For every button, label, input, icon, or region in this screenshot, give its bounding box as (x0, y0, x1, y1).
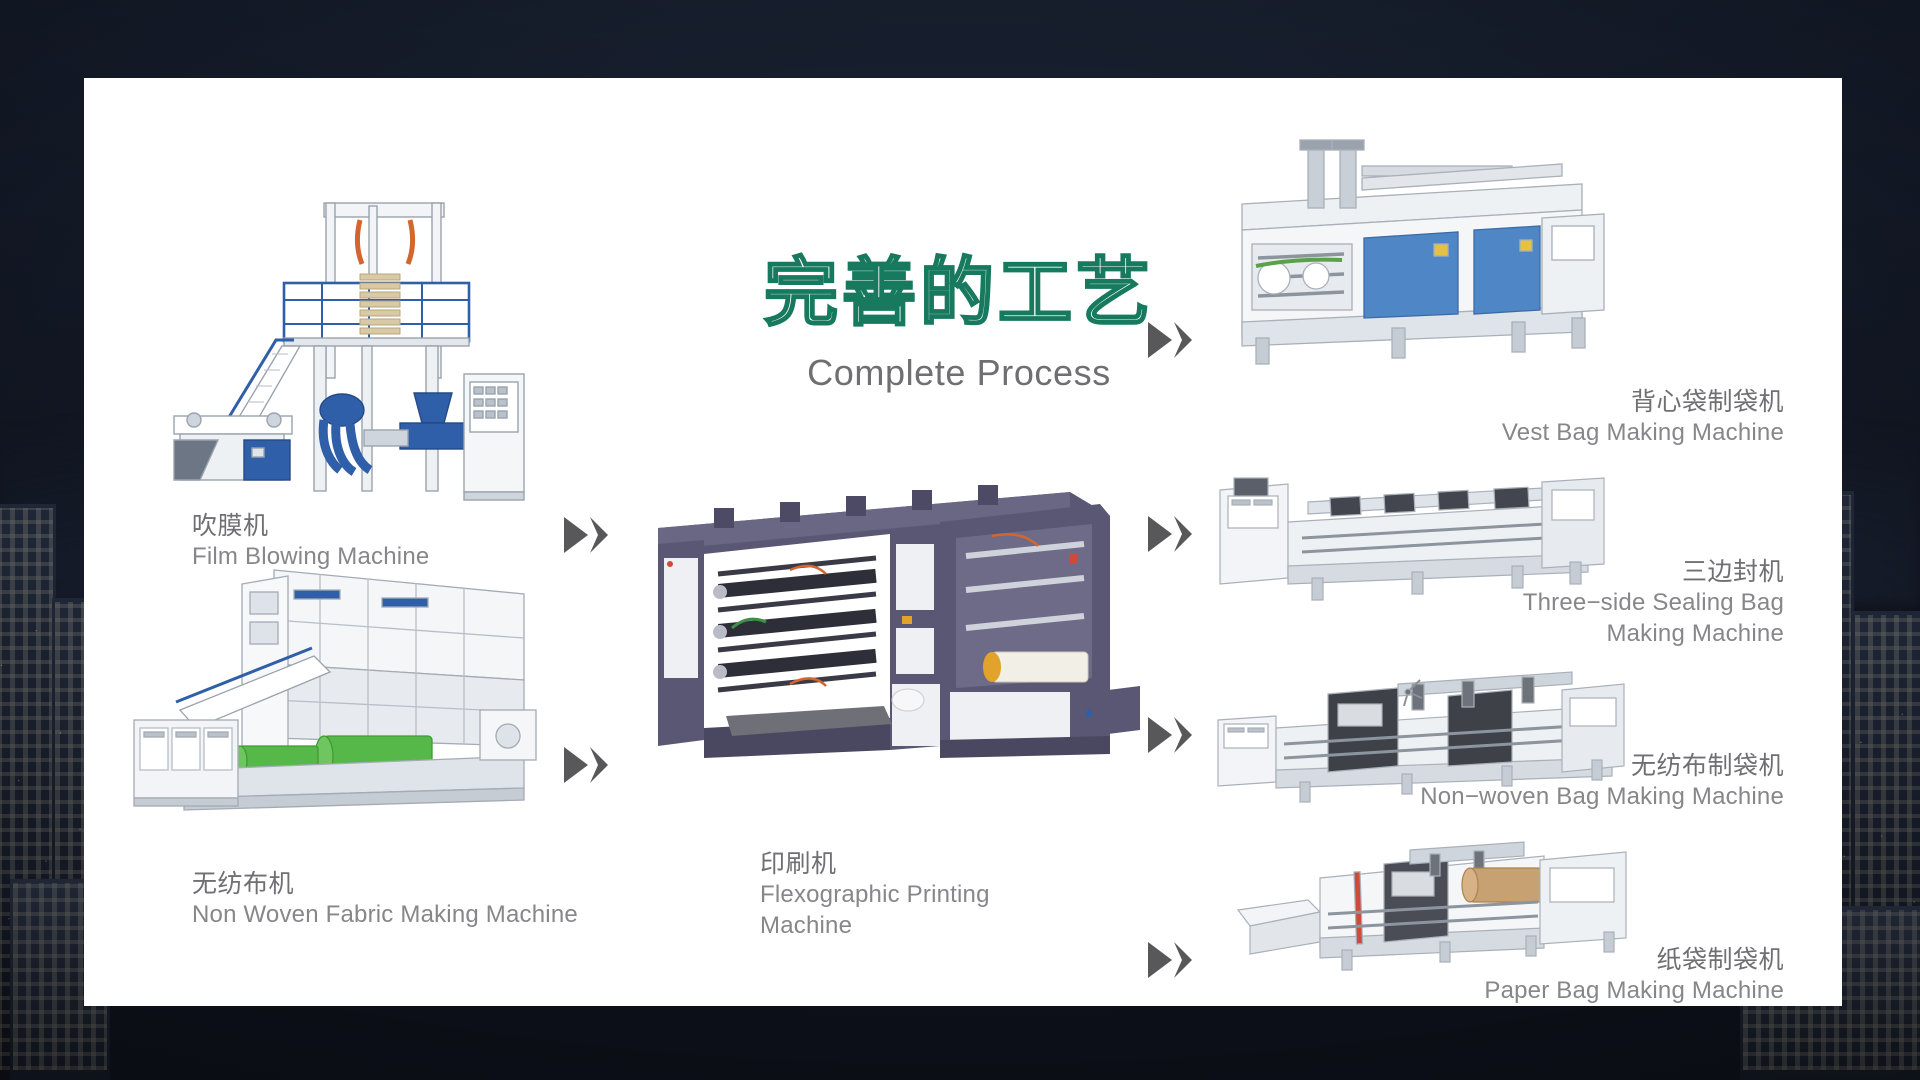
label-en: Vest Bag Making Machine (1364, 418, 1784, 449)
label-en-line1: Three−side Sealing Bag (1344, 588, 1784, 619)
headline-block: 完善的工艺 Complete Process (724, 256, 1194, 394)
content-card: 完善的工艺 Complete Process (84, 78, 1842, 1006)
label-cn: 吹膜机 (192, 510, 532, 542)
label-en: Non−woven Bag Making Machine (1324, 782, 1784, 813)
label-en-line2: Machine (760, 911, 1060, 942)
page-title-en: Complete Process (724, 352, 1194, 394)
label-en-line2: Making Machine (1344, 619, 1784, 650)
label-flexographic-printing-machine: 印刷机 Flexographic Printing Machine (760, 848, 1060, 941)
label-non-woven-bag-making-machine: 无纺布制袋机 Non−woven Bag Making Machine (1324, 750, 1784, 813)
machine-image-vest-bag (1212, 126, 1612, 376)
label-vest-bag-making-machine: 背心袋制袋机 Vest Bag Making Machine (1364, 386, 1784, 449)
arrow-to-paper-bag (1146, 938, 1202, 982)
label-three-side-sealing-bag-making-machine: 三边封机 Three−side Sealing Bag Making Machi… (1344, 556, 1784, 649)
page-title-cn: 完善的工艺 (724, 256, 1194, 330)
label-cn: 纸袋制袋机 (1364, 944, 1784, 976)
machine-image-flexographic-printing (640, 478, 1140, 768)
label-cn: 无纺布机 (192, 868, 632, 900)
label-cn: 背心袋制袋机 (1364, 386, 1784, 418)
arrow-to-non-woven-bag (1146, 713, 1202, 757)
arrow-to-vest-bag (1146, 318, 1202, 362)
machine-image-film-blowing (164, 178, 534, 508)
arrow-to-three-side-sealing (1146, 512, 1202, 556)
label-cn: 三边封机 (1344, 556, 1784, 588)
label-paper-bag-making-machine: 纸袋制袋机 Paper Bag Making Machine (1364, 944, 1784, 1007)
label-en: Paper Bag Making Machine (1364, 976, 1784, 1007)
label-cn: 无纺布制袋机 (1324, 750, 1784, 782)
label-non-woven-fabric-making-machine: 无纺布机 Non Woven Fabric Making Machine (192, 868, 632, 931)
label-en: Non Woven Fabric Making Machine (192, 900, 632, 931)
arrow-non-woven-to-printing (562, 743, 618, 787)
arrow-film-blowing-to-printing (562, 513, 618, 557)
label-cn: 印刷机 (760, 848, 1060, 880)
label-en-line1: Flexographic Printing (760, 880, 1060, 911)
machine-image-non-woven-fabric (124, 560, 544, 820)
